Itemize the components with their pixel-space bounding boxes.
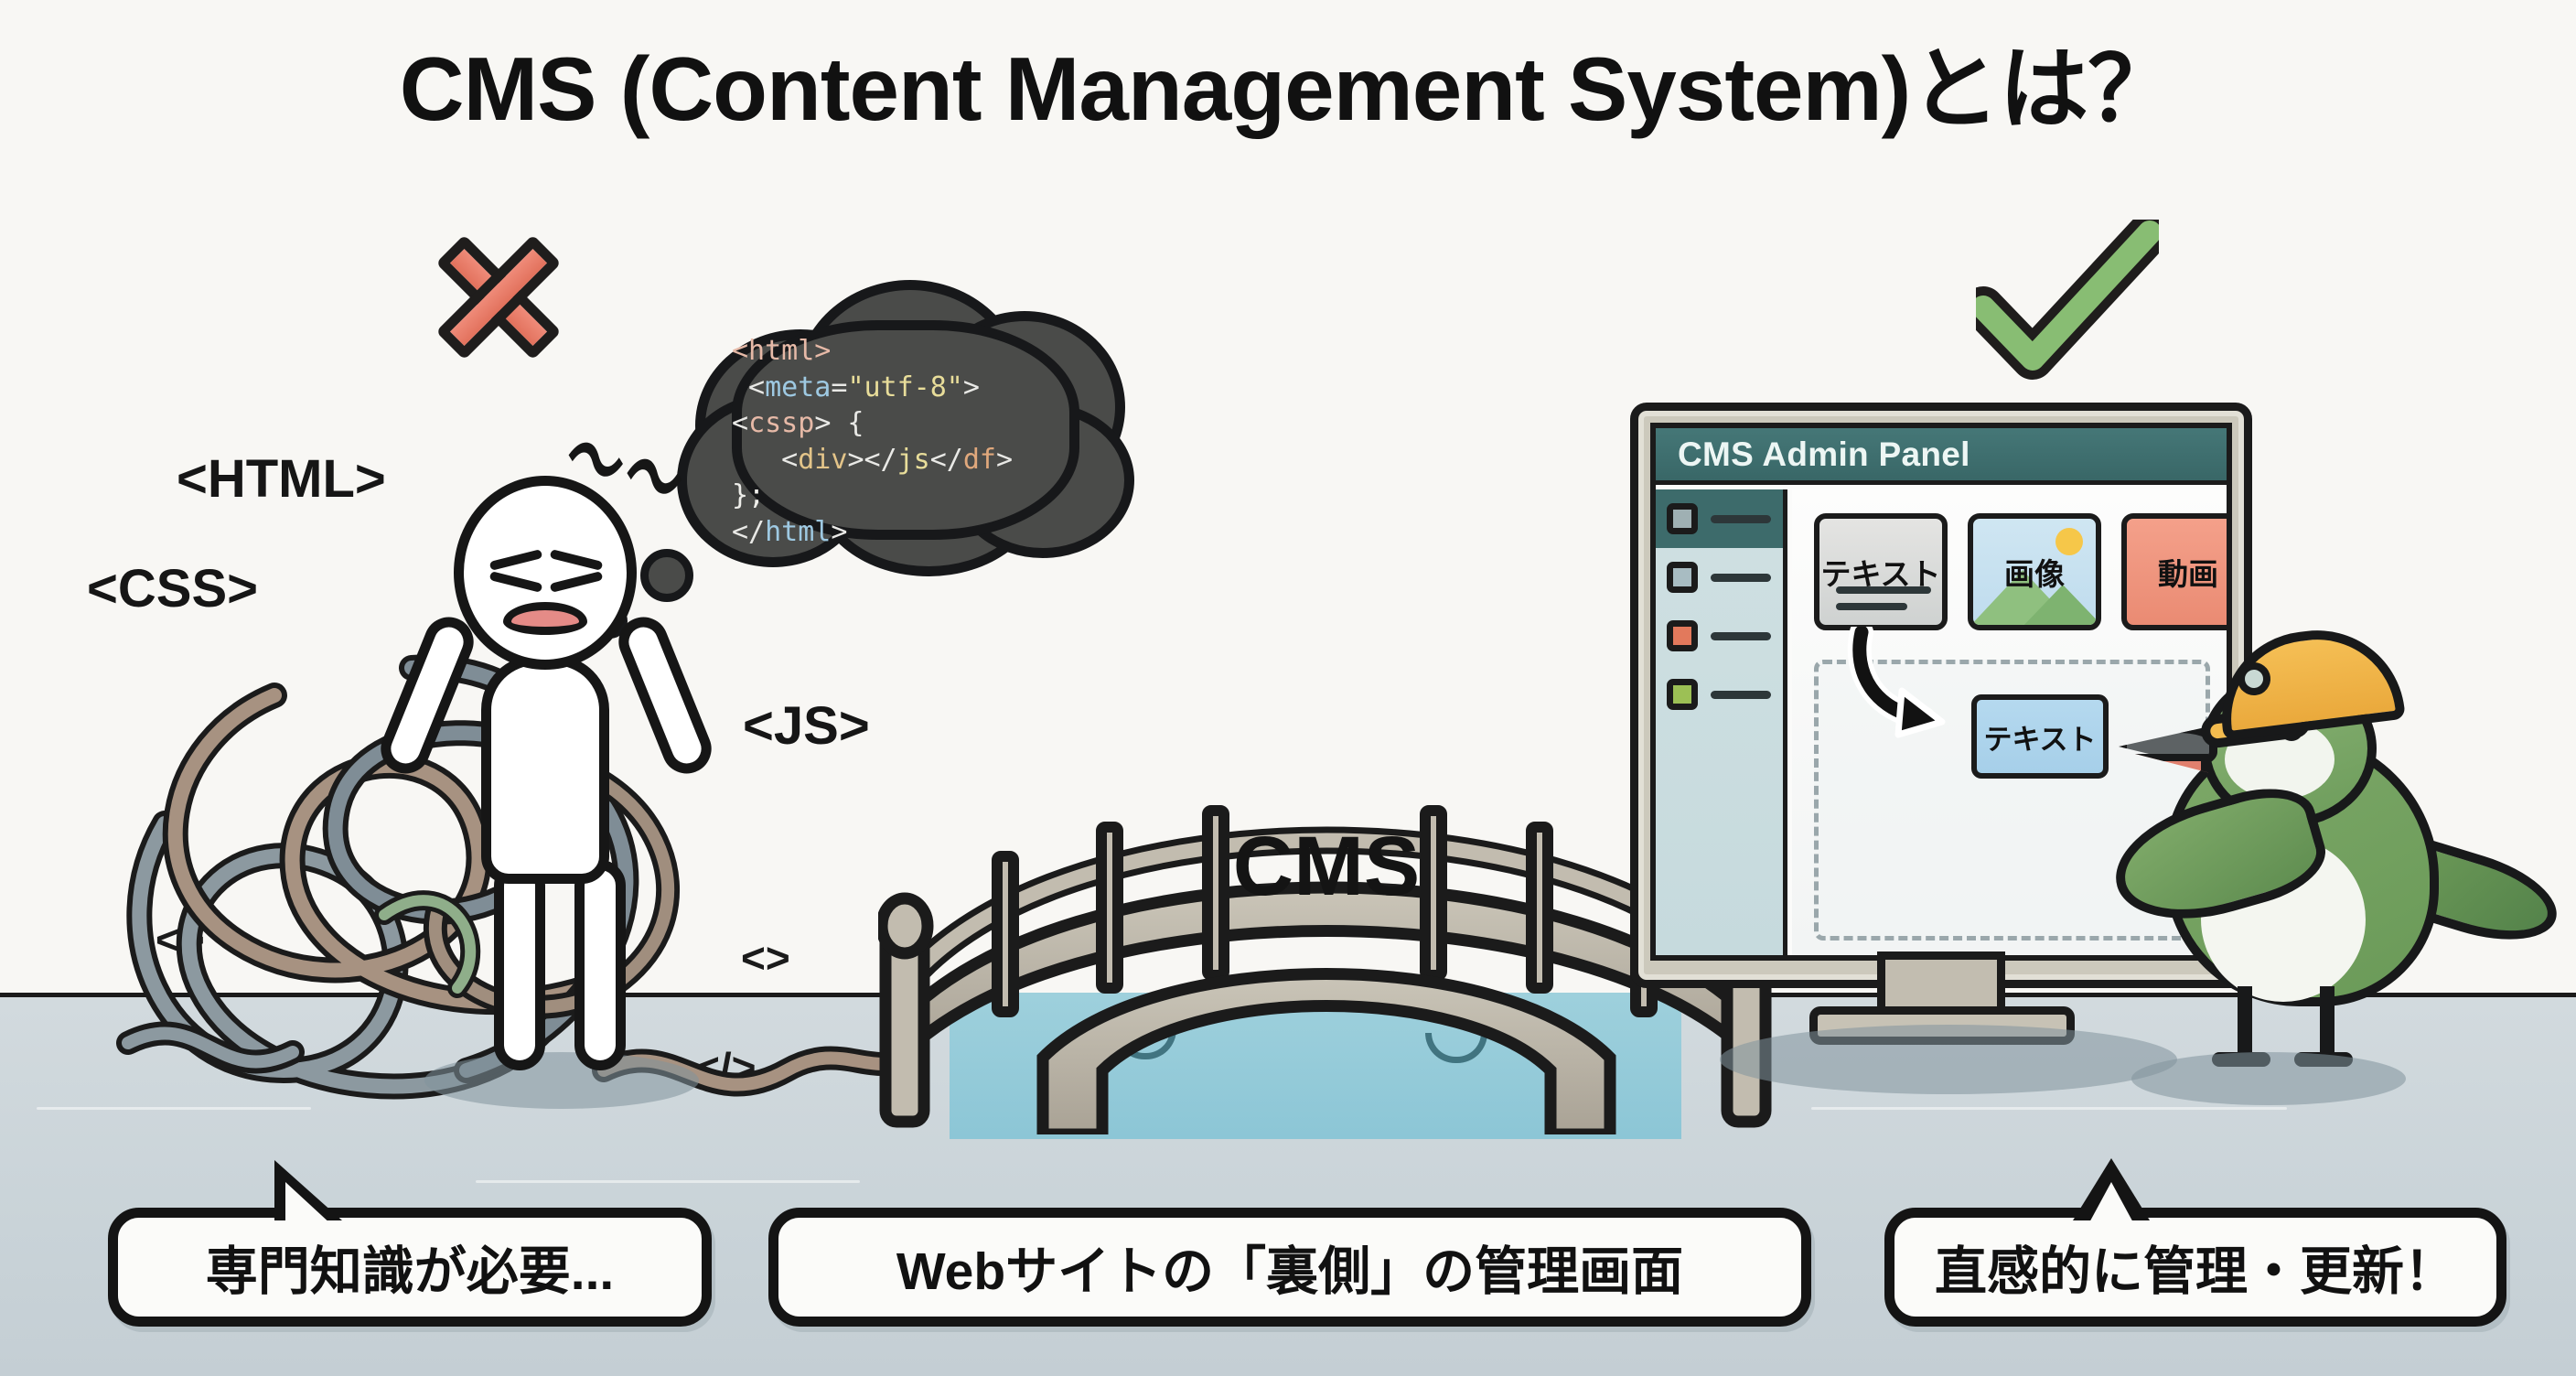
bird-leg-left xyxy=(2238,986,2252,1061)
sidebar-label-line-2 xyxy=(1711,574,1771,582)
drag-arrow-icon xyxy=(1847,627,1984,750)
infographic-canvas: CMS (Content Management System)とは？ <HTML… xyxy=(0,0,2576,1376)
caption-right-text: 直感的に管理・更新！ xyxy=(1935,1230,2456,1305)
sidebar-label-line-3 xyxy=(1711,632,1771,640)
bird-leg-right xyxy=(2320,986,2334,1061)
sidebar-square-icon-4 xyxy=(1667,679,1698,710)
stressed-person xyxy=(366,476,750,1116)
thought-code-text: <html> <meta="utf-8"><cssp> { <div></js<… xyxy=(732,333,1098,551)
sidebar-square-icon-2 xyxy=(1667,562,1698,593)
sidebar-square-icon-3 xyxy=(1667,620,1698,651)
tag-html-label: <HTML> xyxy=(177,448,386,510)
block-text[interactable]: テキスト xyxy=(1814,513,1948,630)
tag-css-label: <CSS> xyxy=(87,558,258,619)
caption-center: Webサイトの「裏側」の管理画面 xyxy=(768,1208,1811,1327)
block-image-label: 画像 xyxy=(2004,550,2065,594)
sidebar-label-line-4 xyxy=(1711,691,1771,699)
drag-text-card[interactable]: テキスト xyxy=(1971,694,2109,779)
drag-card-label: テキスト xyxy=(1983,716,2096,758)
red-x-mark xyxy=(430,229,585,384)
green-check-mark xyxy=(1976,220,2159,384)
caption-right: 直感的に管理・更新！ xyxy=(1884,1208,2506,1327)
block-text-lines-icon xyxy=(1836,577,1931,610)
code-thought-bubble: <html> <meta="utf-8"><cssp> { <div></js<… xyxy=(677,274,1134,576)
block-image[interactable]: 画像 xyxy=(1968,513,2101,630)
sidebar-label-line-1 xyxy=(1711,515,1771,523)
caption-left: 専門知識が必要... xyxy=(108,1208,712,1327)
sidebar-item-1[interactable] xyxy=(1656,489,1783,548)
caption-left-tail-inner xyxy=(285,1182,333,1226)
block-video-label: 動画 xyxy=(2158,550,2218,594)
block-video[interactable]: 動画 xyxy=(2121,513,2232,630)
sidebar-item-4[interactable] xyxy=(1656,665,1783,724)
page-title: CMS (Content Management System)とは？ xyxy=(0,16,2576,146)
sidebar-item-3[interactable] xyxy=(1656,607,1783,665)
bird-shadow xyxy=(2131,1052,2406,1105)
caption-left-text: 専門知識が必要... xyxy=(206,1230,615,1305)
caption-center-text: Webサイトの「裏側」の管理画面 xyxy=(896,1230,1683,1305)
caption-right-tail-inner xyxy=(2088,1182,2135,1226)
admin-sidebar xyxy=(1656,489,1787,955)
sidebar-item-2[interactable] xyxy=(1656,548,1783,607)
content-block-palette: テキスト 画像 動画 xyxy=(1814,513,2232,630)
admin-panel-title: CMS Admin Panel xyxy=(1656,428,2227,485)
sidebar-square-icon-1 xyxy=(1667,503,1698,534)
